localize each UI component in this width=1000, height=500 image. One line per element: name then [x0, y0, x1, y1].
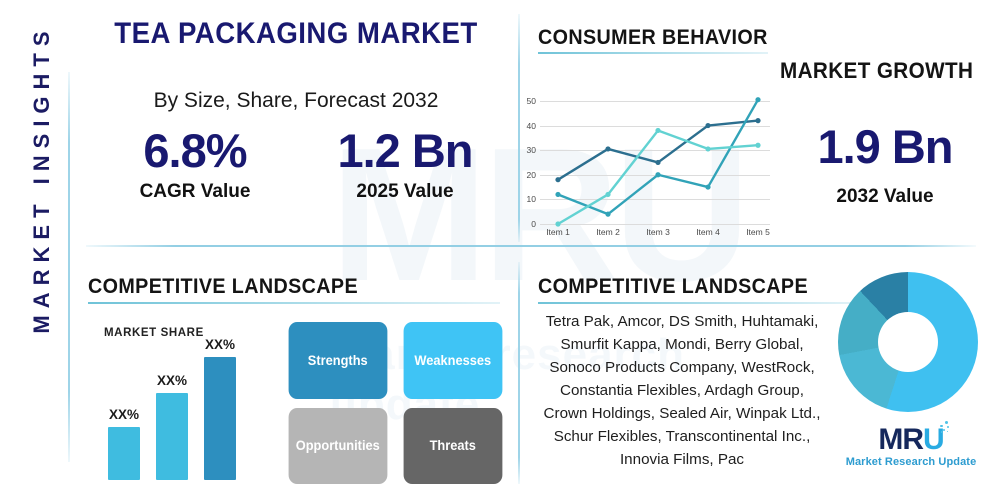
- line-data-point: [755, 97, 760, 102]
- vertical-rail-divider: [68, 72, 70, 462]
- page-title: TEA PACKAGING MARKET: [103, 17, 489, 51]
- swot-cell-opportunities[interactable]: Opportunities: [289, 408, 387, 485]
- x-tick-label: Item 4: [696, 227, 720, 237]
- x-tick-label: Item 1: [546, 227, 570, 237]
- y-tick-label: 0: [531, 219, 536, 229]
- y-tick-label: 30: [527, 145, 536, 155]
- logo-tagline: Market Research Update: [838, 456, 984, 468]
- market-share-donut-chart: [838, 272, 978, 412]
- competitive-landscape-left-rule: [88, 302, 500, 304]
- swot-cell-weaknesses[interactable]: Weaknesses: [403, 322, 501, 399]
- y-tick-label: 20: [527, 170, 536, 180]
- kpi-row: 6.8% CAGR Value 1.2 Bn 2025 Value: [90, 124, 510, 203]
- vertical-divider-top: [518, 14, 520, 242]
- line-data-point: [555, 192, 560, 197]
- market-growth-label: 2032 Value: [790, 186, 980, 208]
- consumer-behavior-rule: [538, 52, 768, 54]
- y-tick-label: 10: [527, 194, 536, 204]
- swot-grid: StrengthsWeaknessesOpportunitiesThreats: [286, 322, 504, 484]
- market-growth-value: 1.9 Bn: [790, 120, 980, 174]
- x-tick-label: Item 3: [646, 227, 670, 237]
- kpi-cagr: 6.8% CAGR Value: [90, 124, 300, 203]
- y-tick-label: 50: [527, 96, 536, 106]
- line-chart-plot: [540, 96, 770, 224]
- kpi-2025-value: 1.2 Bn: [300, 124, 510, 178]
- logo-wordmark: MRU: [878, 424, 943, 455]
- market-growth-heading: MARKET GROWTH: [780, 58, 973, 84]
- market-share-bar-chart: XX%XX%XX%: [100, 340, 260, 480]
- market-share-bar: [156, 393, 188, 480]
- competitive-landscape-right-heading: COMPETITIVE LANDSCAPE: [538, 275, 808, 299]
- x-tick-label: Item 5: [746, 227, 770, 237]
- line-data-point: [655, 172, 660, 177]
- line-data-point: [755, 143, 760, 148]
- line-data-point: [655, 128, 660, 133]
- bar-value-label: XX%: [205, 337, 235, 352]
- line-data-point: [655, 160, 660, 165]
- company-list: Tetra Pak, Amcor, DS Smith, Huhtamaki, S…: [536, 310, 828, 471]
- competitive-landscape-right-rule: [538, 302, 856, 304]
- kpi-cagr-value: 6.8%: [90, 124, 300, 178]
- market-share-title: MARKET SHARE: [104, 327, 204, 339]
- vertical-rail-label: MARKET INSIGHTS: [29, 0, 55, 389]
- market-share-bar: [204, 357, 236, 480]
- line-data-point: [605, 212, 610, 217]
- consumer-behavior-heading: CONSUMER BEHAVIOR: [538, 26, 768, 50]
- line-data-point: [555, 177, 560, 182]
- bar-value-label: XX%: [157, 373, 187, 388]
- kpi-2025-label: 2025 Value: [300, 181, 510, 203]
- line-data-point: [705, 123, 710, 128]
- logo-sparkle-icon: [940, 421, 951, 434]
- line-data-point: [605, 192, 610, 197]
- brand-logo: MRU Market Research Update: [838, 424, 984, 468]
- market-share-bar: [108, 427, 140, 480]
- swot-cell-threats[interactable]: Threats: [403, 408, 501, 485]
- page-subtitle: By Size, Share, Forecast 2032: [86, 89, 506, 113]
- line-data-point: [705, 184, 710, 189]
- logo-mark-dark: MR: [878, 423, 923, 456]
- line-series: [558, 100, 758, 214]
- infographic-canvas: MRU market research update MARKET INSIGH…: [0, 0, 1000, 500]
- line-data-point: [705, 146, 710, 151]
- gridline: [540, 224, 770, 225]
- swot-cell-strengths[interactable]: Strengths: [289, 322, 387, 399]
- competitive-landscape-left-heading: COMPETITIVE LANDSCAPE: [88, 275, 358, 299]
- x-tick-label: Item 2: [596, 227, 620, 237]
- line-data-point: [755, 118, 760, 123]
- bar-value-label: XX%: [109, 407, 139, 422]
- kpi-cagr-label: CAGR Value: [90, 181, 300, 203]
- consumer-behavior-line-chart: 01020304050 Item 1Item 2Item 3Item 4Item…: [540, 96, 770, 224]
- line-data-point: [555, 221, 560, 226]
- y-tick-label: 40: [527, 121, 536, 131]
- line-data-point: [605, 146, 610, 151]
- vertical-divider-bottom: [518, 262, 520, 484]
- kpi-2025: 1.2 Bn 2025 Value: [300, 124, 510, 203]
- horizontal-divider: [86, 245, 976, 247]
- donut-hole: [878, 312, 938, 372]
